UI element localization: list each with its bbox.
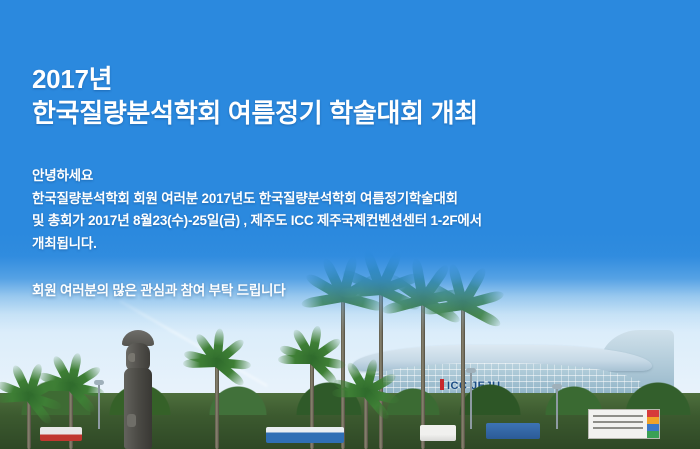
banner-content: 2017년 한국질량분석학회 여름정기 학술대회 개최 안녕하세요 한국질량분석… <box>0 0 700 449</box>
body-line-1: 안녕하세요 <box>32 165 482 188</box>
body-line-2: 한국질량분석학회 회원 여러분 2017년도 한국질량분석학회 여름정기학술대회 <box>32 188 482 211</box>
banner-title: 2017년 한국질량분석학회 여름정기 학술대회 개최 <box>32 62 478 130</box>
conference-announcement-banner: ICC JEJU <box>0 0 700 449</box>
body-line-4: 개최됩니다. <box>32 233 482 256</box>
banner-body-text: 안녕하세요 한국질량분석학회 회원 여러분 2017년도 한국질량분석학회 여름… <box>32 165 482 255</box>
title-line-2: 한국질량분석학회 여름정기 학술대회 개최 <box>32 96 478 130</box>
body-line-3: 및 총회가 2017년 8월23(수)-25일(금) , 제주도 ICC 제주국… <box>32 210 482 233</box>
title-line-1: 2017년 <box>32 62 478 96</box>
banner-closing-text: 회원 여러분의 많은 관심과 참여 부탁 드립니다 <box>32 280 285 303</box>
